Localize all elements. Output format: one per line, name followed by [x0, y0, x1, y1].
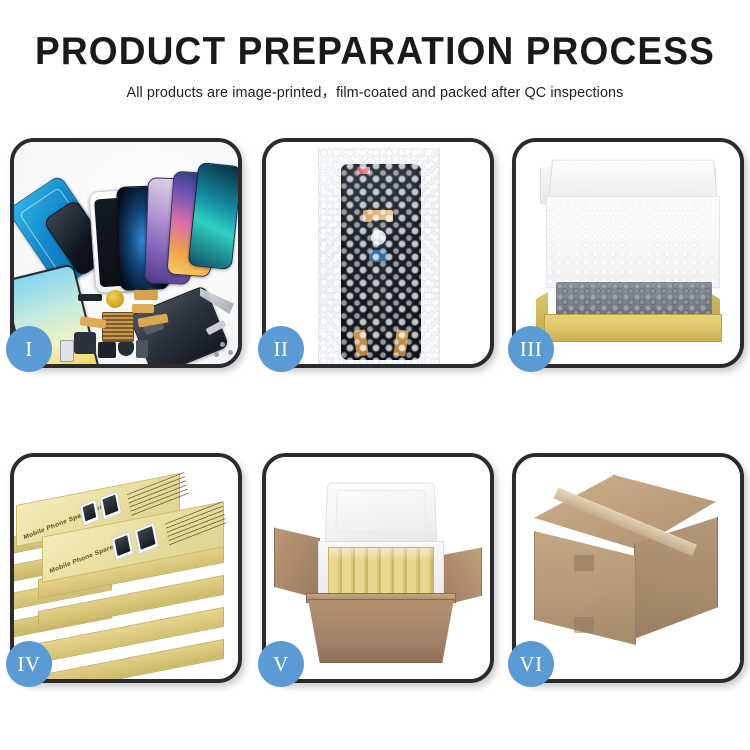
- connector-strip-part: [78, 294, 102, 301]
- logic-board-part: [102, 312, 134, 342]
- driver-ic-chip: [369, 250, 387, 262]
- screw-icon: [220, 342, 225, 347]
- lcd-lower-assembly: [349, 326, 413, 360]
- step-3-image: [516, 142, 740, 364]
- phone-thumbnail-icon: [134, 522, 160, 555]
- process-step-card-6[interactable]: VI: [512, 453, 744, 683]
- process-step-card-3[interactable]: III: [512, 138, 744, 368]
- carton-seam-lower: [574, 617, 594, 633]
- process-step-card-4[interactable]: Mobile Phone Spare Parts Mobile Phone Sp…: [10, 453, 242, 683]
- step-4-image: Mobile Phone Spare Parts Mobile Phone Sp…: [14, 457, 238, 679]
- carton-seam-upper: [574, 555, 594, 571]
- screw-icon: [228, 350, 233, 355]
- lcd-screen-assembly: [341, 164, 421, 360]
- carton-flap-left: [274, 523, 320, 599]
- step-5-image: [266, 457, 490, 679]
- vibrator-motor-part: [98, 342, 116, 358]
- step-6-image: [516, 457, 740, 679]
- step-badge-3: III: [508, 326, 554, 372]
- adhesive-tab-right: [393, 329, 409, 356]
- stacked-boxes-illustration: Mobile Phone Spare Parts Mobile Phone Sp…: [14, 457, 238, 679]
- step-1-image: [14, 142, 238, 364]
- bubble-wrapped-lcd-illustration: [266, 142, 490, 364]
- screw-icon: [214, 352, 219, 357]
- tray-front-panel: [544, 314, 722, 342]
- step-badge-4: IV: [6, 641, 52, 687]
- speaker-coil-part: [106, 290, 124, 308]
- process-step-card-1[interactable]: I: [10, 138, 242, 368]
- red-label-sticker: [357, 167, 370, 174]
- sim-tray-part: [60, 340, 74, 362]
- sealed-carton-illustration: [516, 457, 740, 679]
- open-kraft-tray-illustration: [516, 142, 740, 364]
- earpiece-mesh-part: [118, 342, 134, 356]
- adhesive-tab-left: [353, 329, 369, 356]
- bubble-wrap-bag: [318, 148, 440, 364]
- phone-thumbnail-icon: [79, 499, 100, 526]
- process-step-card-2[interactable]: II: [262, 138, 494, 368]
- white-foam-sheet: [546, 196, 720, 288]
- camera-hole-icon: [371, 230, 386, 245]
- styrofoam-lid: [325, 482, 438, 543]
- packed-kraft-boxes: [328, 547, 434, 595]
- flex-cable-part-b: [132, 304, 154, 313]
- step-badge-5: V: [258, 641, 304, 687]
- process-step-card-5[interactable]: V: [262, 453, 494, 683]
- step-badge-2: II: [258, 326, 304, 372]
- carton-with-styrofoam-illustration: [266, 457, 490, 679]
- step-2-image: [266, 142, 490, 364]
- step-badge-1: I: [6, 326, 52, 372]
- process-step-grid: I: [0, 0, 750, 750]
- flex-cable-part-a: [134, 290, 158, 300]
- camera-module-part: [74, 332, 96, 354]
- phone-thumbnail-icon: [111, 531, 134, 561]
- step-badge-6: VI: [508, 641, 554, 687]
- phone-thumbnail-icon: [99, 491, 122, 521]
- battery-cell-part: [136, 340, 148, 358]
- bubble-pack-contents: [556, 282, 712, 316]
- carton-front-panel: [308, 599, 454, 663]
- parts-assortment-illustration: [14, 142, 238, 364]
- product-preparation-process-page: PRODUCT PREPARATION PROCESS All products…: [0, 0, 750, 750]
